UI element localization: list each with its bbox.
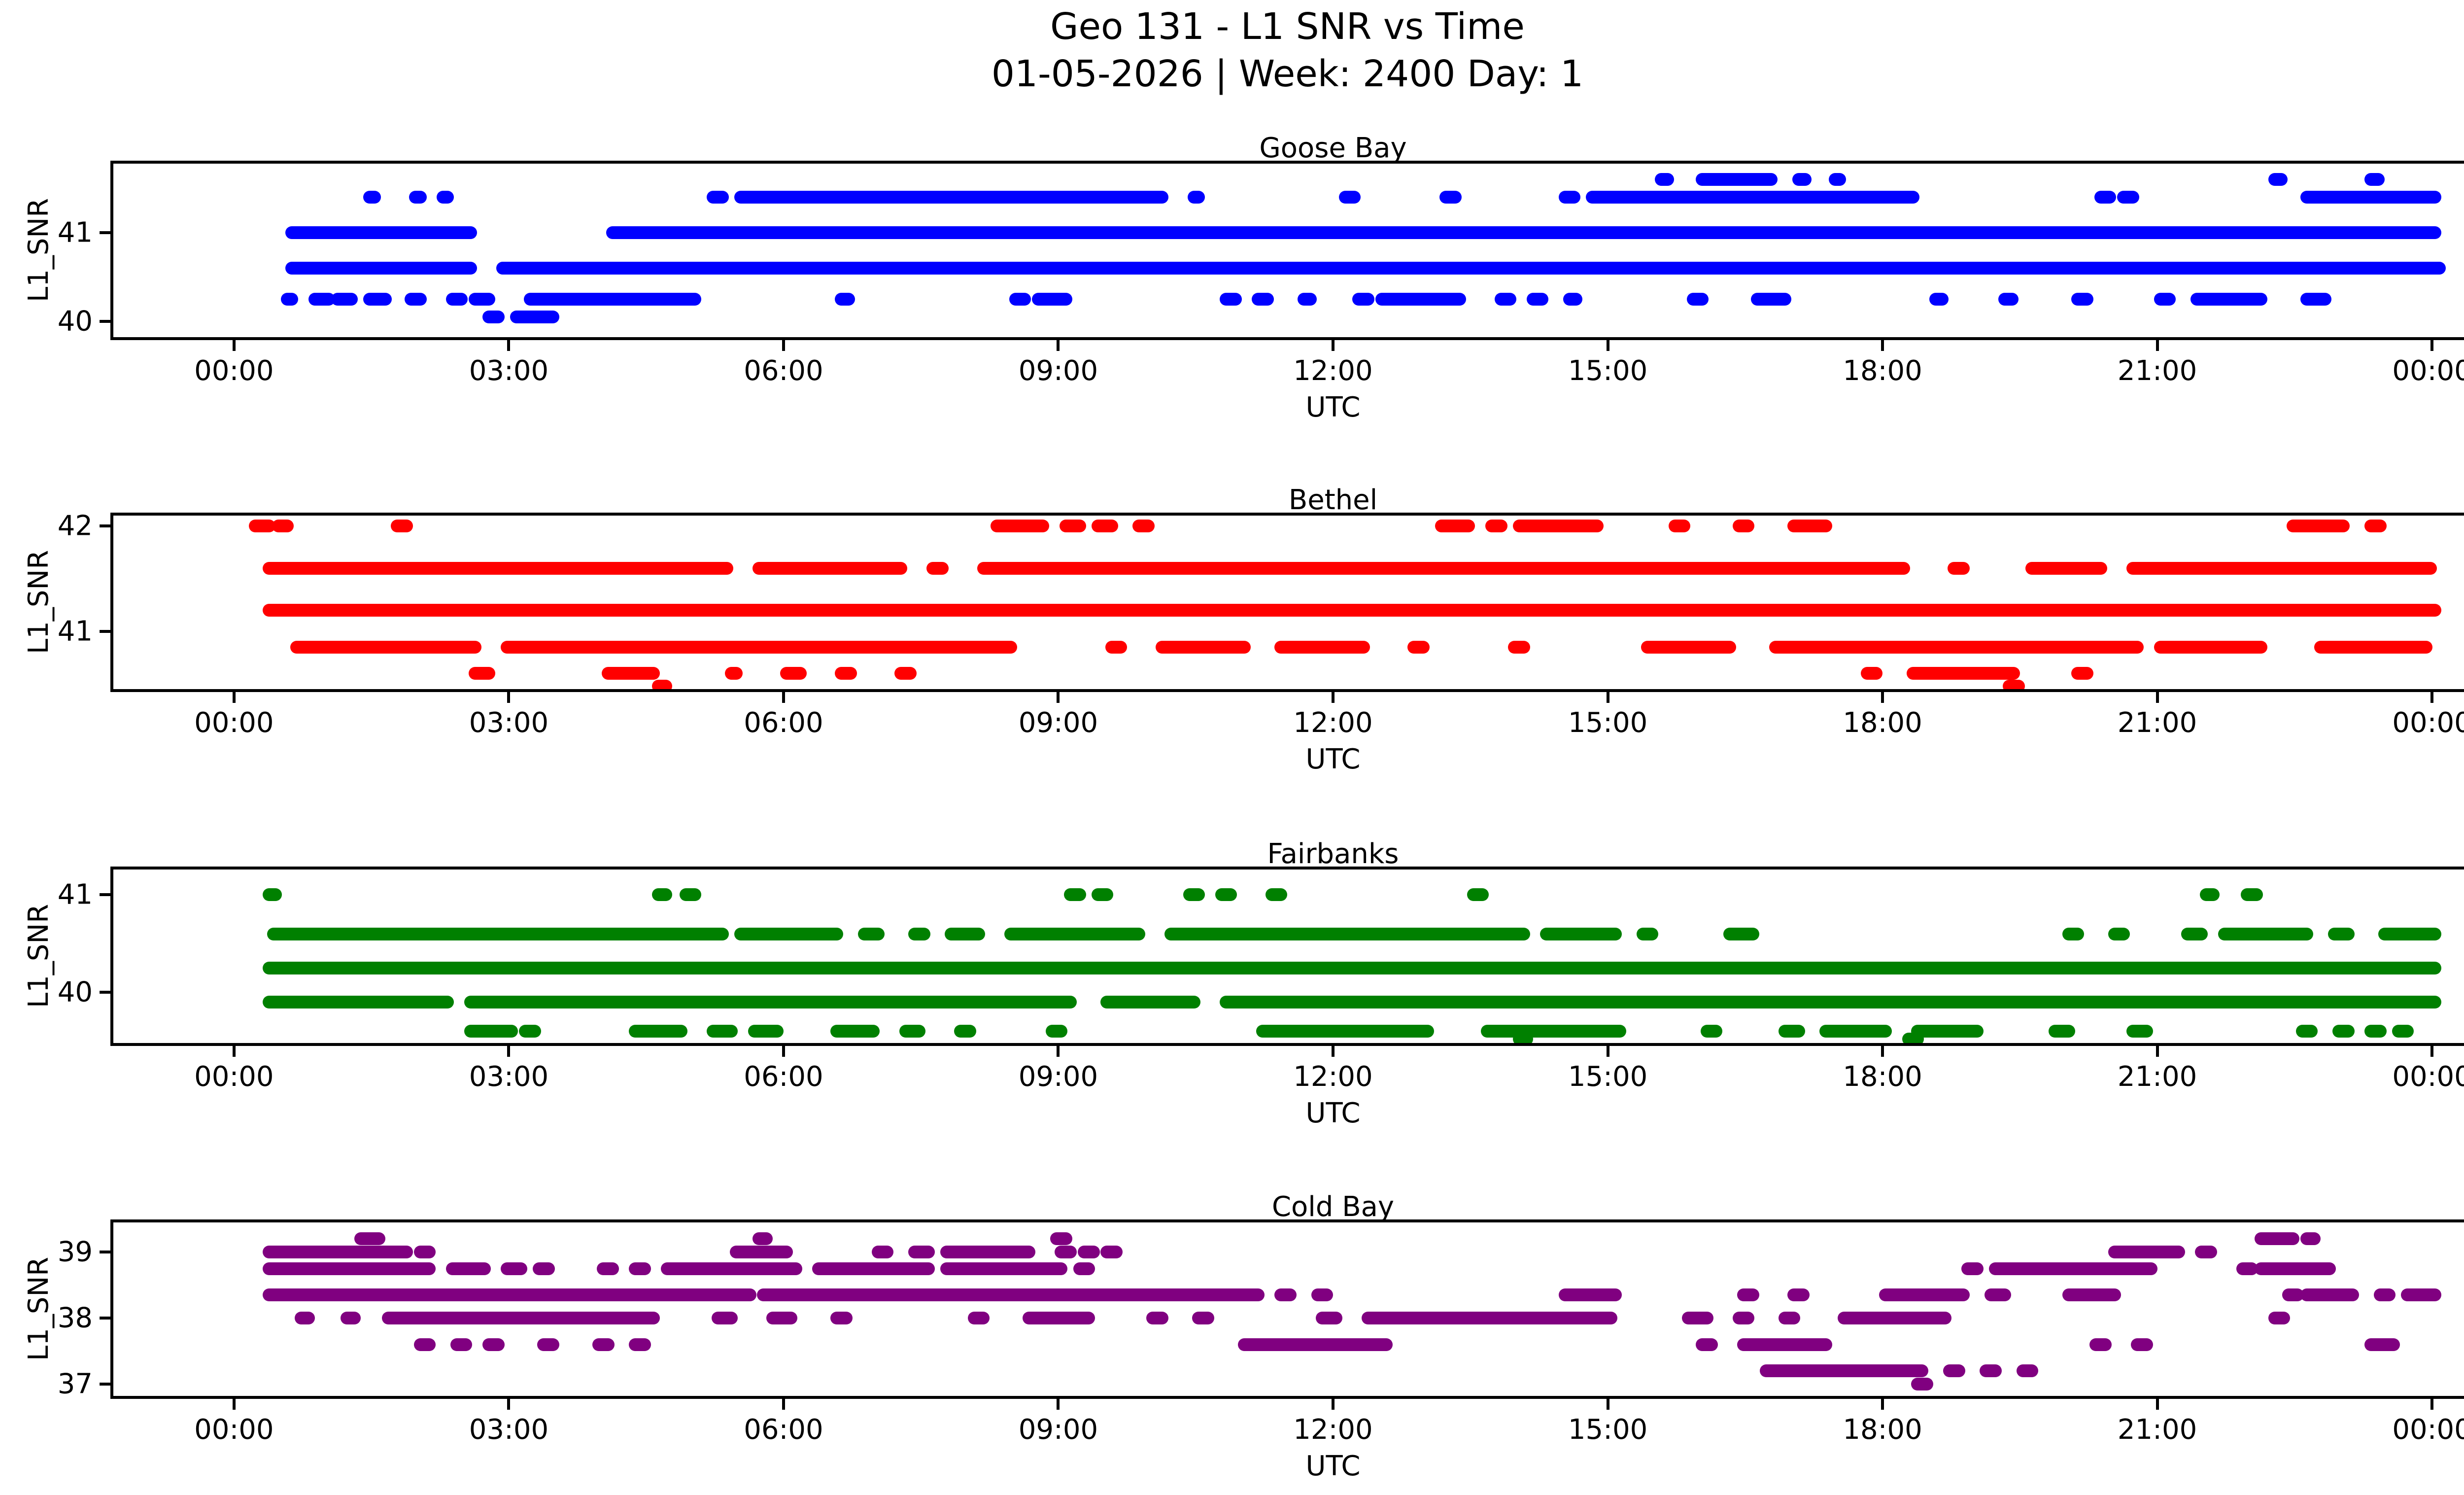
data-point-group xyxy=(712,1312,738,1324)
data-point-group xyxy=(285,262,477,275)
plot-area-1 xyxy=(113,516,2464,689)
data-point-group xyxy=(1132,520,1155,532)
x-tick-label: 06:00 xyxy=(744,355,823,387)
data-point-group xyxy=(1769,641,2144,654)
figure-root: Geo 131 - L1 SNR vs Time01-05-2026 | Wee… xyxy=(0,0,2464,1495)
data-point-group xyxy=(926,562,949,575)
data-point-group xyxy=(757,1288,1265,1301)
data-point-group xyxy=(908,1246,935,1258)
x-tick-label: 09:00 xyxy=(1019,355,1098,387)
data-point-group xyxy=(382,1312,660,1324)
data-point-group xyxy=(1861,667,1883,680)
data-point-group xyxy=(2126,562,2437,575)
data-point-group xyxy=(2374,1288,2396,1301)
data-point-group xyxy=(1100,1246,1123,1258)
x-tick-mark xyxy=(1607,692,1609,703)
data-point-group xyxy=(680,888,702,901)
data-point-group xyxy=(725,667,742,680)
data-point-group xyxy=(409,191,426,204)
data-point-group xyxy=(1485,520,1507,532)
data-point-group xyxy=(2268,173,2288,186)
data-point-group xyxy=(1220,293,1242,306)
x-tick-label: 18:00 xyxy=(1843,1414,1922,1446)
data-point-group xyxy=(2241,888,2263,901)
plot-area-3 xyxy=(113,1222,2464,1396)
data-point-group xyxy=(2154,641,2267,654)
data-point-group xyxy=(2071,293,2093,306)
x-tick-mark xyxy=(507,1046,510,1057)
data-point-group xyxy=(753,562,907,575)
axes-1 xyxy=(110,513,2464,692)
data-point-group xyxy=(510,311,559,323)
data-point-group xyxy=(1064,888,1086,901)
y-axis-label-0: L1_SNR xyxy=(23,198,55,302)
data-point-group xyxy=(1146,1312,1168,1324)
x-tick-mark xyxy=(1881,1399,1884,1410)
data-point-group xyxy=(1046,1025,1068,1038)
data-point-group xyxy=(391,520,413,532)
x-tick-mark xyxy=(782,340,785,351)
x-tick-label: 18:00 xyxy=(1843,1061,1922,1093)
x-tick-label: 03:00 xyxy=(469,1414,548,1446)
data-point-group xyxy=(592,1338,615,1351)
y-tick-label: 42 xyxy=(0,510,93,542)
data-point-group xyxy=(894,667,917,680)
x-tick-label: 09:00 xyxy=(1019,707,1098,739)
x-tick-label: 06:00 xyxy=(744,1414,823,1446)
x-tick-mark xyxy=(1332,1399,1335,1410)
data-point-group xyxy=(2071,667,2093,680)
data-point-group xyxy=(1092,888,1114,901)
data-point-group xyxy=(1696,1338,1718,1351)
data-point-group xyxy=(1266,888,1288,901)
x-tick-mark xyxy=(2430,1399,2433,1410)
data-point-group xyxy=(661,1262,802,1275)
data-point-group xyxy=(1311,1288,1334,1301)
data-point-group xyxy=(2300,1232,2321,1245)
x-tick-label: 18:00 xyxy=(1843,355,1922,387)
data-point-group xyxy=(414,1338,436,1351)
data-point-group xyxy=(446,293,468,306)
data-point-group xyxy=(1669,520,1691,532)
x-tick-label: 06:00 xyxy=(744,1061,823,1093)
data-point-group xyxy=(1879,1288,1970,1301)
data-point-group xyxy=(2332,1025,2355,1038)
y-tick-label: 41 xyxy=(0,615,93,647)
y-tick-mark xyxy=(100,1383,110,1386)
data-point-group xyxy=(437,191,454,204)
data-point-group xyxy=(1352,293,1374,306)
data-point-group xyxy=(1540,928,1621,940)
data-point-group xyxy=(1435,520,1475,532)
x-tick-label: 00:00 xyxy=(2392,1061,2464,1093)
data-point-group xyxy=(835,667,857,680)
x-tick-mark xyxy=(507,692,510,703)
data-point-group xyxy=(1682,1312,1713,1324)
data-point-group xyxy=(872,1246,894,1258)
data-point-group xyxy=(1641,641,1736,654)
data-point-group xyxy=(734,928,843,940)
data-point-group xyxy=(2392,1025,2414,1038)
data-point-group xyxy=(341,1312,361,1324)
data-point-group xyxy=(2108,928,2130,940)
data-point-group xyxy=(940,1262,1067,1275)
y-tick-mark xyxy=(100,991,110,994)
x-tick-label: 15:00 xyxy=(1568,355,1647,387)
subplot-title-1: Bethel xyxy=(110,484,2464,516)
x-tick-label: 15:00 xyxy=(1568,1061,1647,1093)
x-tick-label: 00:00 xyxy=(2392,355,2464,387)
subplot-title-0: Goose Bay xyxy=(110,132,2464,164)
data-point-group xyxy=(1787,520,1832,532)
x-tick-label: 15:00 xyxy=(1568,1414,1647,1446)
data-point-group xyxy=(2218,928,2313,940)
x-tick-label: 00:00 xyxy=(2392,707,2464,739)
data-point-group xyxy=(272,520,294,532)
data-point-group xyxy=(780,667,807,680)
y-tick-label: 41 xyxy=(0,217,93,249)
data-point-group xyxy=(363,293,392,306)
x-tick-label: 00:00 xyxy=(2392,1414,2464,1446)
data-point-group xyxy=(1787,1288,1810,1301)
data-point-group xyxy=(2300,191,2441,204)
data-point-group xyxy=(1902,1033,1924,1043)
y-tick-mark xyxy=(100,231,110,234)
y-tick-mark xyxy=(100,1251,110,1253)
data-point-group xyxy=(830,1312,853,1324)
data-point-group xyxy=(1829,173,1846,186)
data-point-group xyxy=(1733,520,1755,532)
data-point-group xyxy=(2255,1262,2336,1275)
x-tick-label: 09:00 xyxy=(1019,1414,1098,1446)
x-tick-label: 00:00 xyxy=(194,1414,274,1446)
data-point-group xyxy=(1238,1338,1393,1351)
y-tick-label: 40 xyxy=(0,305,93,337)
x-tick-mark xyxy=(507,340,510,351)
data-point-group xyxy=(285,226,477,239)
y-tick-label: 37 xyxy=(0,1368,93,1400)
data-point-group xyxy=(1961,1262,1984,1275)
data-point-group xyxy=(1050,1232,1072,1245)
data-point-group xyxy=(450,1338,473,1351)
data-point-group xyxy=(2190,293,2267,306)
data-point-group xyxy=(597,1262,619,1275)
x-tick-mark xyxy=(2430,340,2433,351)
data-point-group xyxy=(2154,293,2176,306)
data-point-group xyxy=(707,1025,738,1038)
data-point-group xyxy=(331,293,358,306)
data-point-group xyxy=(707,191,729,204)
data-point-group xyxy=(263,962,2441,974)
data-point-group xyxy=(1156,641,1251,654)
data-point-group xyxy=(1092,520,1118,532)
x-tick-label: 03:00 xyxy=(469,1061,548,1093)
data-point-group xyxy=(2003,680,2025,689)
x-tick-label: 00:00 xyxy=(194,355,274,387)
data-point-group xyxy=(501,1262,527,1275)
data-point-group xyxy=(249,520,275,532)
data-point-group xyxy=(1274,1288,1297,1301)
data-point-group xyxy=(405,293,427,306)
data-point-group xyxy=(414,1246,436,1258)
x-tick-mark xyxy=(233,340,236,351)
data-point-group xyxy=(1723,928,1759,940)
data-point-group xyxy=(363,191,380,204)
data-point-group xyxy=(652,888,672,901)
data-point-group xyxy=(1637,928,1659,940)
data-point-group xyxy=(1733,1312,1755,1324)
data-point-group xyxy=(464,1025,518,1038)
subplot-title-3: Cold Bay xyxy=(110,1191,2464,1223)
data-point-group xyxy=(1819,1025,1892,1038)
plot-area-0 xyxy=(113,164,2464,337)
data-point-group xyxy=(2300,1288,2359,1301)
data-point-group xyxy=(2296,1025,2318,1038)
x-axis-label-2: UTC xyxy=(110,1097,2464,1129)
data-point-group xyxy=(263,1246,413,1258)
x-tick-label: 21:00 xyxy=(2118,707,2197,739)
data-point-group xyxy=(537,1338,559,1351)
x-tick-label: 03:00 xyxy=(469,707,548,739)
x-tick-mark xyxy=(1057,1046,1060,1057)
x-tick-label: 00:00 xyxy=(194,707,274,739)
x-tick-mark xyxy=(233,1046,236,1057)
x-tick-mark xyxy=(1607,1399,1609,1410)
data-point-group xyxy=(1687,293,1709,306)
data-point-group xyxy=(1220,996,2441,1008)
data-point-group xyxy=(2117,191,2139,204)
data-point-group xyxy=(858,928,885,940)
y-tick-mark xyxy=(100,1317,110,1320)
data-point-group xyxy=(1559,1288,1622,1301)
data-point-group xyxy=(1513,1033,1533,1043)
x-tick-mark xyxy=(782,1046,785,1057)
data-point-group xyxy=(2062,928,2085,940)
y-tick-mark xyxy=(100,320,110,323)
axes-0 xyxy=(110,161,2464,340)
data-point-group xyxy=(835,293,855,306)
data-point-group xyxy=(2328,928,2355,940)
x-axis-label-1: UTC xyxy=(110,743,2464,775)
x-tick-label: 21:00 xyxy=(2118,1414,2197,1446)
x-tick-label: 09:00 xyxy=(1019,1061,1098,1093)
data-point-group xyxy=(1696,173,1777,186)
data-point-group xyxy=(2089,1338,2112,1351)
data-point-group xyxy=(2314,641,2432,654)
data-point-group xyxy=(1513,520,1604,532)
data-point-group xyxy=(1751,293,1791,306)
data-point-group xyxy=(446,1262,491,1275)
data-point-group xyxy=(1256,1025,1434,1038)
x-tick-mark xyxy=(1881,1046,1884,1057)
data-point-group xyxy=(1060,520,1086,532)
data-point-group xyxy=(734,191,1168,204)
data-point-group xyxy=(1559,191,1581,204)
data-point-group xyxy=(629,1025,687,1038)
data-point-group xyxy=(1586,191,1919,204)
data-point-group xyxy=(519,1025,541,1038)
data-point-group xyxy=(533,1262,555,1275)
data-point-group xyxy=(2268,1312,2291,1324)
x-tick-label: 00:00 xyxy=(194,1061,274,1093)
data-point-group xyxy=(1004,928,1145,940)
data-point-group xyxy=(263,888,282,901)
data-point-group xyxy=(354,1232,385,1245)
data-point-group xyxy=(602,667,660,680)
x-tick-mark xyxy=(233,1399,236,1410)
x-tick-mark xyxy=(2430,1046,2433,1057)
axes-3 xyxy=(110,1219,2464,1399)
y-tick-mark xyxy=(100,893,110,896)
data-point-group xyxy=(1481,1025,1626,1038)
data-point-group xyxy=(1737,1288,1759,1301)
data-point-group xyxy=(908,928,930,940)
x-tick-mark xyxy=(782,692,785,703)
data-point-group xyxy=(652,680,672,689)
data-point-group xyxy=(1655,173,1674,186)
x-tick-mark xyxy=(1607,340,1609,351)
data-point-group xyxy=(2131,1338,2153,1351)
data-point-group xyxy=(954,1025,976,1038)
x-tick-label: 12:00 xyxy=(1293,707,1372,739)
subplot-title-2: Fairbanks xyxy=(110,838,2464,870)
x-axis-label-3: UTC xyxy=(110,1450,2464,1482)
data-point-group xyxy=(1907,667,2020,680)
data-point-group xyxy=(2300,293,2331,306)
x-tick-label: 12:00 xyxy=(1293,1414,1372,1446)
data-point-group xyxy=(1316,1312,1342,1324)
data-point-group xyxy=(968,1312,990,1324)
suptitle-line-2: 01-05-2026 | Week: 2400 Day: 1 xyxy=(992,53,1583,95)
data-point-group xyxy=(753,1232,773,1245)
x-tick-label: 12:00 xyxy=(1293,355,1372,387)
data-point-group xyxy=(1055,1246,1077,1258)
x-tick-mark xyxy=(1607,1046,1609,1057)
data-point-group xyxy=(1439,191,1462,204)
data-point-group xyxy=(482,311,505,323)
data-point-group xyxy=(1009,293,1031,306)
data-point-group xyxy=(281,293,298,306)
data-point-group xyxy=(2378,928,2441,940)
data-point-group xyxy=(263,1262,436,1275)
data-point-group xyxy=(766,1312,797,1324)
data-point-group xyxy=(295,1312,315,1324)
data-point-group xyxy=(1274,641,1369,654)
y-tick-mark xyxy=(100,524,110,527)
data-point-group xyxy=(1164,928,1530,940)
data-point-group xyxy=(2364,520,2387,532)
data-point-group xyxy=(748,1025,784,1038)
data-point-group xyxy=(2364,1025,2387,1038)
data-point-group xyxy=(2049,1025,2075,1038)
x-tick-mark xyxy=(1881,340,1884,351)
data-point-group xyxy=(940,1246,1035,1258)
x-tick-mark xyxy=(782,1399,785,1410)
data-point-group xyxy=(2108,1246,2185,1258)
data-point-group xyxy=(1563,293,1582,306)
data-point-group xyxy=(991,520,1049,532)
x-tick-mark xyxy=(233,692,236,703)
x-tick-label: 18:00 xyxy=(1843,707,1922,739)
data-point-group xyxy=(1073,1262,1095,1275)
data-point-group xyxy=(2195,1246,2217,1258)
data-point-group xyxy=(290,641,481,654)
x-tick-mark xyxy=(507,1399,510,1410)
data-point-group xyxy=(1701,1025,1723,1038)
x-tick-mark xyxy=(1057,1399,1060,1410)
x-tick-mark xyxy=(1332,692,1335,703)
data-point-group xyxy=(1023,1312,1095,1324)
data-point-group xyxy=(2287,520,2350,532)
data-point-group xyxy=(267,928,729,940)
data-point-group xyxy=(830,1025,880,1038)
x-tick-mark xyxy=(1332,1046,1335,1057)
data-point-group xyxy=(1508,641,1530,654)
data-point-group xyxy=(1989,1262,2157,1275)
y-tick-label: 41 xyxy=(0,879,93,911)
x-tick-mark xyxy=(2156,340,2159,351)
data-point-group xyxy=(263,562,733,575)
data-point-group xyxy=(1192,1312,1214,1324)
x-tick-label: 03:00 xyxy=(469,355,548,387)
data-point-group xyxy=(2126,1025,2153,1038)
figure-suptitle: Geo 131 - L1 SNR vs Time01-05-2026 | Wee… xyxy=(0,3,2464,98)
data-point-group xyxy=(2062,1288,2121,1301)
data-point-group xyxy=(1779,1025,1805,1038)
data-point-group xyxy=(2255,1232,2299,1245)
data-point-group xyxy=(263,1288,756,1301)
data-point-group xyxy=(1375,293,1466,306)
data-point-group xyxy=(496,262,2446,275)
axes-2 xyxy=(110,867,2464,1046)
data-point-group xyxy=(2094,191,2117,204)
data-point-group xyxy=(1760,1364,1928,1377)
data-point-group xyxy=(730,1246,793,1258)
data-point-group xyxy=(2025,562,2107,575)
x-tick-label: 21:00 xyxy=(2118,355,2197,387)
data-point-group xyxy=(1495,293,1517,306)
data-point-group xyxy=(1339,191,1361,204)
data-point-group xyxy=(464,996,1077,1008)
x-tick-label: 06:00 xyxy=(744,707,823,739)
x-tick-mark xyxy=(1057,692,1060,703)
data-point-group xyxy=(2017,1364,2039,1377)
data-point-group xyxy=(1998,293,2019,306)
data-point-group xyxy=(1779,1312,1801,1324)
data-point-group xyxy=(977,562,1911,575)
data-point-group xyxy=(263,604,2441,617)
data-point-group xyxy=(1407,641,1430,654)
x-tick-mark xyxy=(2156,1399,2159,1410)
data-point-group xyxy=(1183,888,1205,901)
data-point-group xyxy=(2364,173,2385,186)
data-point-group xyxy=(629,1338,651,1351)
data-point-group xyxy=(1252,293,1274,306)
y-tick-label: 39 xyxy=(0,1236,93,1268)
data-point-group xyxy=(501,641,1017,654)
x-tick-mark xyxy=(2156,692,2159,703)
y-tick-mark xyxy=(100,630,110,633)
data-point-group xyxy=(1980,1364,2002,1377)
x-tick-mark xyxy=(2430,692,2433,703)
y-tick-label: 40 xyxy=(0,976,93,1008)
data-point-group xyxy=(1078,1246,1100,1258)
data-point-group xyxy=(1911,1378,1933,1391)
data-point-group xyxy=(2401,1288,2441,1301)
x-tick-mark xyxy=(1332,340,1335,351)
data-point-group xyxy=(1792,173,1812,186)
data-point-group xyxy=(482,1338,505,1351)
